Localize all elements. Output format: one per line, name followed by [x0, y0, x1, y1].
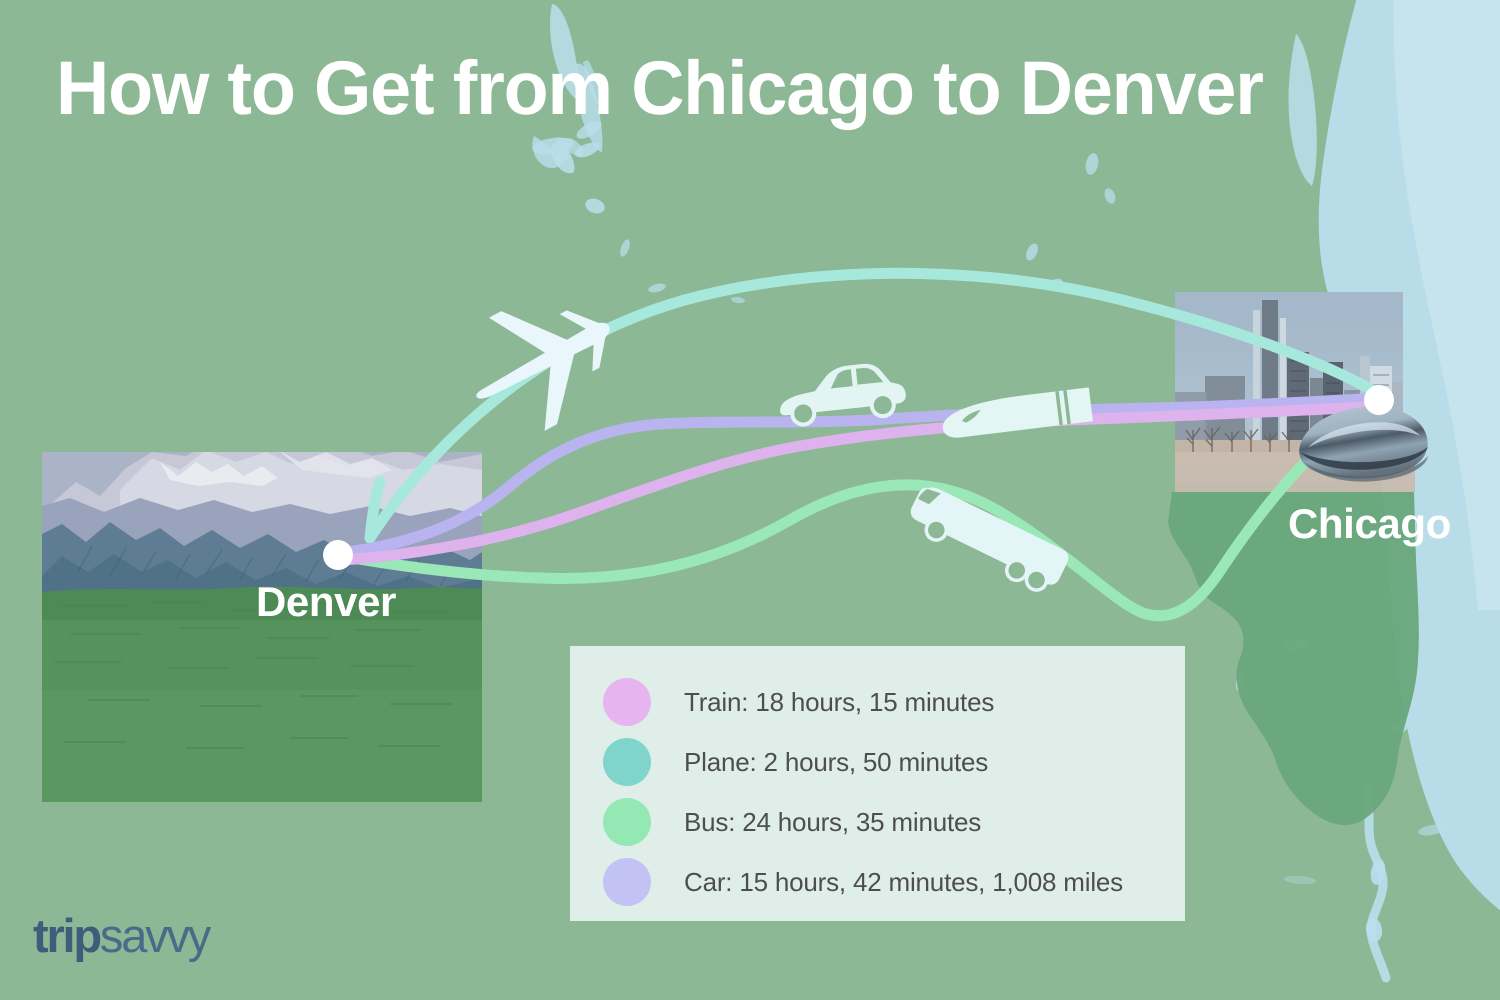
- chicago-city-dot[interactable]: [1364, 385, 1394, 415]
- legend-label-plane: Plane: 2 hours, 50 minutes: [684, 747, 988, 778]
- legend-item-bus[interactable]: Bus: 24 hours, 35 minutes: [570, 792, 1185, 852]
- legend-swatch-car: [603, 858, 651, 906]
- legend-item-plane[interactable]: Plane: 2 hours, 50 minutes: [570, 732, 1185, 792]
- legend-panel: Train: 18 hours, 15 minutes Plane: 2 hou…: [570, 646, 1185, 921]
- infographic-canvas: How to Get from Chicago to Denver Denver…: [0, 0, 1500, 1000]
- tripsavvy-logo[interactable]: tripsavvy: [33, 912, 209, 959]
- denver-city-dot[interactable]: [323, 540, 353, 570]
- logo-savvy-text: savvy: [100, 909, 209, 962]
- legend-label-train: Train: 18 hours, 15 minutes: [684, 687, 994, 718]
- city-label-chicago: Chicago: [1288, 500, 1451, 548]
- logo-trip-text: trip: [33, 909, 100, 962]
- page-title: How to Get from Chicago to Denver: [56, 48, 1433, 130]
- legend-rows: Train: 18 hours, 15 minutes Plane: 2 hou…: [570, 646, 1185, 921]
- legend-label-bus: Bus: 24 hours, 35 minutes: [684, 807, 981, 838]
- legend-swatch-bus: [603, 798, 651, 846]
- legend-swatch-train: [603, 678, 651, 726]
- city-label-denver: Denver: [256, 578, 396, 626]
- legend-label-car: Car: 15 hours, 42 minutes, 1,008 miles: [684, 867, 1123, 898]
- legend-swatch-plane: [603, 738, 651, 786]
- legend-item-car[interactable]: Car: 15 hours, 42 minutes, 1,008 miles: [570, 852, 1185, 912]
- legend-item-train[interactable]: Train: 18 hours, 15 minutes: [570, 672, 1185, 732]
